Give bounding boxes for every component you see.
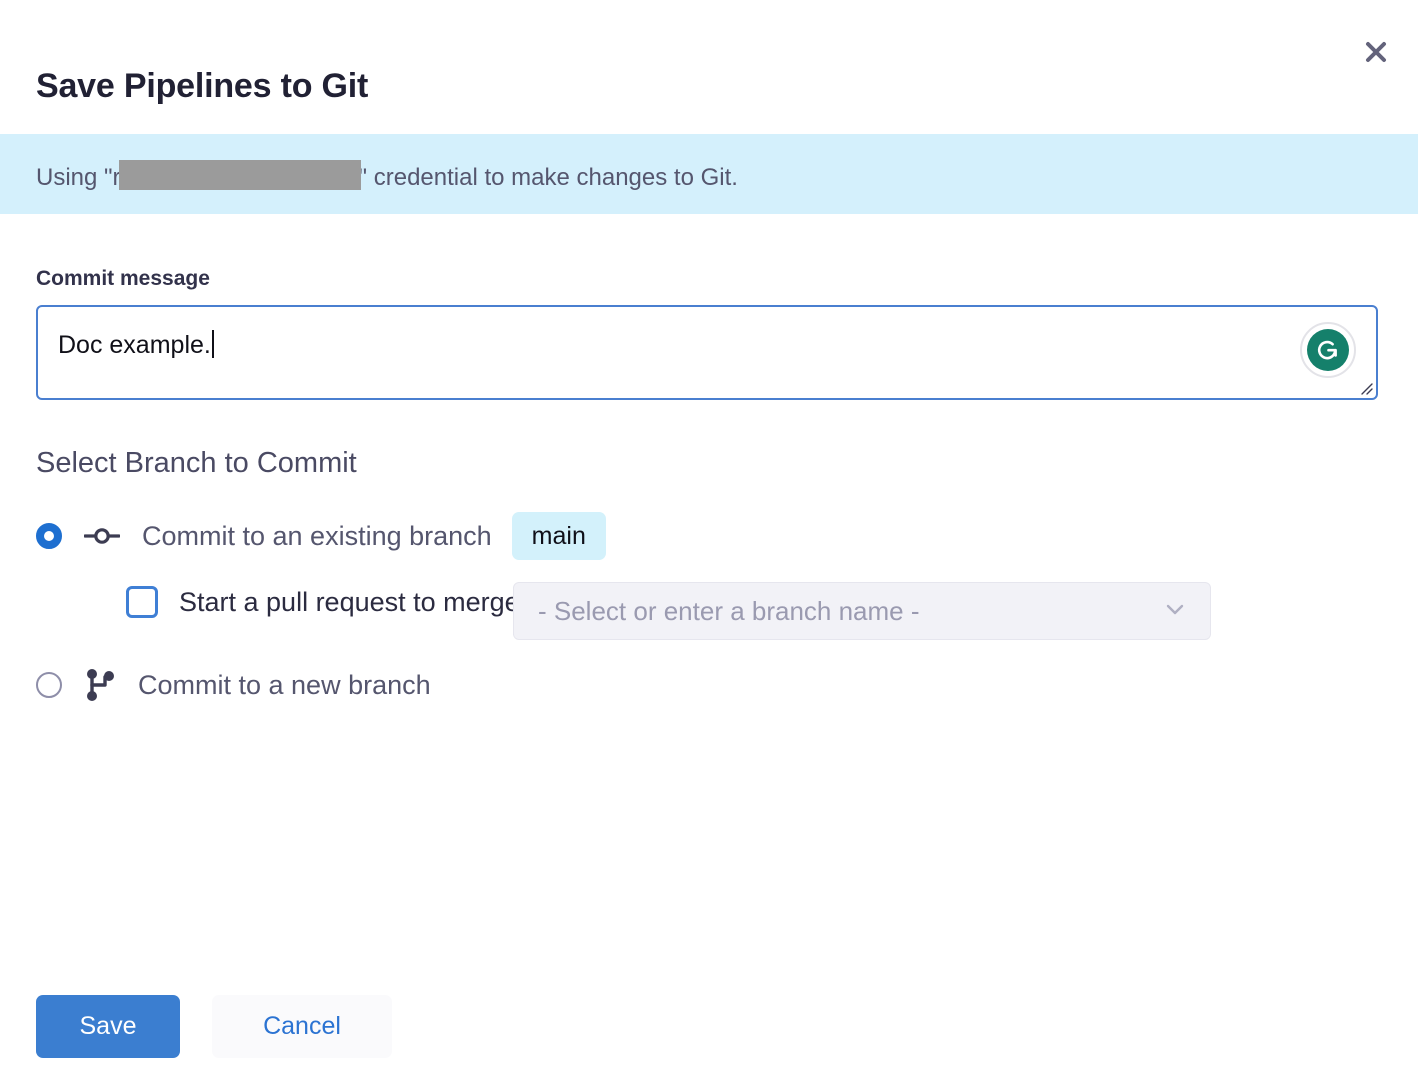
grammarly-icon[interactable] <box>1300 322 1356 378</box>
grammarly-icon-inner <box>1307 329 1349 371</box>
new-branch-label: Commit to a new branch <box>138 668 431 702</box>
close-icon <box>1362 38 1390 66</box>
banner-suffix: " credential to make changes to Git. <box>359 162 738 194</box>
save-pipelines-dialog: Save Pipelines to Git Using "r " credent… <box>0 0 1418 1092</box>
git-commit-icon <box>84 522 120 550</box>
cancel-button[interactable]: Cancel <box>212 995 392 1058</box>
close-dialog-button[interactable] <box>1352 28 1400 76</box>
banner-prefix: Using "r <box>36 162 121 194</box>
credential-info-banner: Using "r " credential to make changes to… <box>0 134 1418 214</box>
pull-request-row[interactable]: Start a pull request to merge <box>126 585 520 619</box>
commit-message-label: Commit message <box>36 265 210 293</box>
credential-info-text: Using "r " credential to make changes to… <box>36 155 738 194</box>
current-branch-badge: main <box>512 512 606 560</box>
pull-request-branch-select[interactable]: - Select or enter a branch name - <box>513 582 1211 640</box>
radio-new-branch[interactable] <box>36 672 62 698</box>
pull-request-label: Start a pull request to merge <box>179 585 520 619</box>
pull-request-checkbox[interactable] <box>126 586 158 618</box>
save-button[interactable]: Save <box>36 995 180 1058</box>
chevron-down-icon <box>1162 596 1188 627</box>
radio-row-new-branch[interactable]: Commit to a new branch <box>36 668 431 702</box>
commit-message-value-wrap: Doc example. <box>58 329 214 361</box>
text-cursor <box>212 330 214 358</box>
radio-existing-branch[interactable] <box>36 523 62 549</box>
branch-section-heading: Select Branch to Commit <box>36 444 357 482</box>
dialog-title: Save Pipelines to Git <box>36 64 368 108</box>
pull-request-branch-placeholder: - Select or enter a branch name - <box>538 595 920 627</box>
redacted-credential-name <box>119 160 361 190</box>
commit-message-value: Doc example. <box>58 331 211 359</box>
git-branch-icon <box>84 668 116 702</box>
textarea-resize-handle[interactable] <box>1357 379 1373 395</box>
radio-row-existing-branch[interactable]: Commit to an existing branch main <box>36 512 606 560</box>
existing-branch-label: Commit to an existing branch <box>142 519 492 553</box>
commit-message-input[interactable]: Doc example. <box>36 305 1378 400</box>
